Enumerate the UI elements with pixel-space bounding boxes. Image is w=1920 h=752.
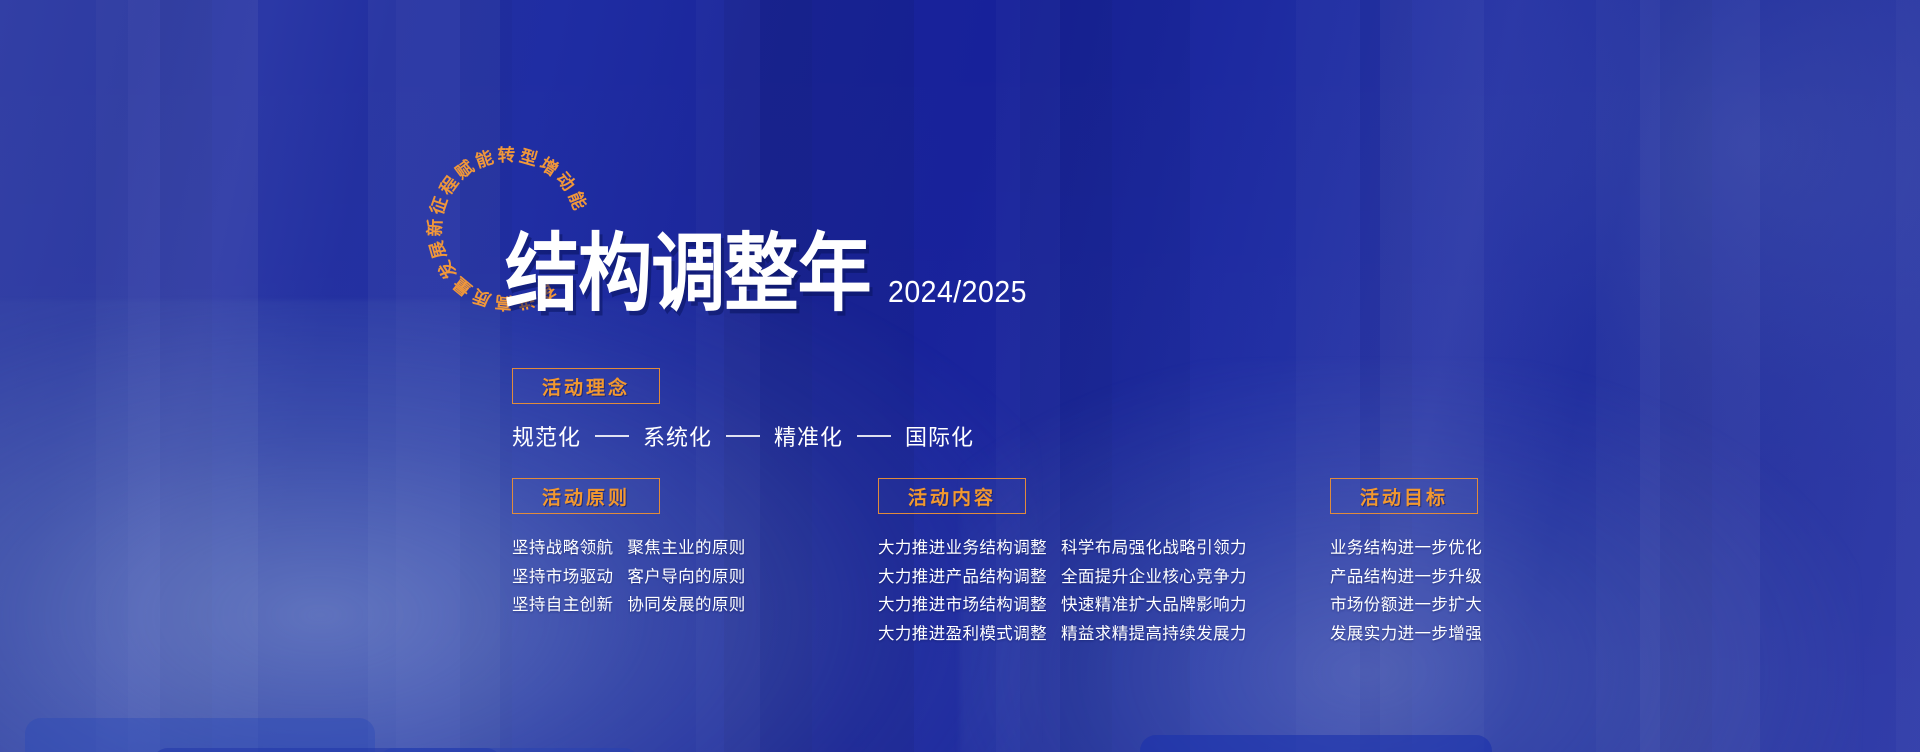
concept-item: 精准化: [774, 420, 843, 452]
seal-char: 能: [473, 146, 497, 171]
list-item: 大力推进盈利模式调整精益求精提高持续发展力: [878, 620, 1247, 649]
list-item-secondary: 全面提升企业核心竞争力: [1061, 563, 1247, 592]
seal-char: 新: [425, 217, 446, 236]
list-item: 大力推进市场结构调整快速精准扩大品牌影响力: [878, 591, 1247, 620]
page-title: 结构调整年: [505, 233, 871, 316]
seal-char: 展: [426, 237, 450, 261]
badge-activity-principle[interactable]: 活动原则: [512, 478, 660, 514]
list-item: 市场份额进一步扩大: [1330, 591, 1482, 620]
seal-char: 转: [497, 145, 516, 165]
background-band-1: [0, 0, 128, 752]
list-item-secondary: 精益求精提高持续发展力: [1061, 620, 1247, 649]
list-item-primary: 业务结构进一步优化: [1330, 534, 1482, 563]
banner-stage: 奋进高质量发展新征程赋能转型增动能 结构调整年 2024/2025 活动理念 活…: [0, 0, 1920, 752]
list-item: 坚持战略领航聚焦主业的原则: [512, 534, 746, 563]
list-item-primary: 坚持市场驱动: [512, 563, 613, 592]
list-item: 大力推进业务结构调整科学布局强化战略引领力: [878, 534, 1247, 563]
column-activity-content: 大力推进业务结构调整科学布局强化战略引领力大力推进产品结构调整全面提升企业核心竞…: [878, 534, 1247, 648]
list-item: 发展实力进一步增强: [1330, 620, 1482, 649]
list-item: 业务结构进一步优化: [1330, 534, 1482, 563]
badge-activity-goal[interactable]: 活动目标: [1330, 478, 1478, 514]
concept-separator: [595, 435, 629, 437]
list-item-primary: 大力推进市场结构调整: [878, 591, 1047, 620]
concept-item: 系统化: [643, 420, 712, 452]
badge-activity-concept[interactable]: 活动理念: [512, 368, 660, 404]
list-item-secondary: 协同发展的原则: [627, 591, 745, 620]
list-item-secondary: 科学布局强化战略引领力: [1061, 534, 1247, 563]
list-item-primary: 大力推进产品结构调整: [878, 563, 1047, 592]
list-item-primary: 大力推进盈利模式调整: [878, 620, 1047, 649]
seal-char: 能: [565, 189, 591, 214]
list-item: 产品结构进一步升级: [1330, 563, 1482, 592]
badge-activity-content[interactable]: 活动内容: [878, 478, 1026, 514]
list-item-primary: 坚持自主创新: [512, 591, 613, 620]
decor-rounded-rect-3: [378, 748, 640, 752]
decor-rounded-rect-2: [152, 748, 502, 752]
list-item-primary: 发展实力进一步增强: [1330, 620, 1482, 649]
list-item-secondary: 快速精准扩大品牌影响力: [1061, 591, 1247, 620]
concept-item: 国际化: [905, 420, 974, 452]
background-glow-right: [1380, 0, 1920, 480]
column-activity-goal: 业务结构进一步优化产品结构进一步升级市场份额进一步扩大发展实力进一步增强: [1330, 534, 1482, 648]
concept-item: 规范化: [512, 420, 581, 452]
list-item-secondary: 客户导向的原则: [627, 563, 745, 592]
title-row: 结构调整年 2024/2025: [505, 246, 1039, 317]
list-item-primary: 市场份额进一步扩大: [1330, 591, 1482, 620]
list-item-primary: 坚持战略领航: [512, 534, 613, 563]
concept-separator: [857, 435, 891, 437]
list-item-primary: 产品结构进一步升级: [1330, 563, 1482, 592]
list-item-primary: 大力推进业务结构调整: [878, 534, 1047, 563]
year-range: 2024/2025: [888, 274, 1027, 317]
decor-rounded-rect-4: [1140, 735, 1492, 752]
list-item: 大力推进产品结构调整全面提升企业核心竞争力: [878, 563, 1247, 592]
list-item: 坚持自主创新协同发展的原则: [512, 591, 746, 620]
seal-char: 型: [517, 146, 541, 170]
concept-separator: [726, 435, 760, 437]
column-activity-principle: 坚持战略领航聚焦主业的原则坚持市场驱动客户导向的原则坚持自主创新协同发展的原则: [512, 534, 746, 620]
list-item-secondary: 聚焦主业的原则: [627, 534, 745, 563]
decor-rounded-rect-1: [25, 718, 375, 752]
concept-line: 规范化系统化精准化国际化: [512, 420, 974, 452]
background-band-3: [368, 0, 500, 752]
list-item: 坚持市场驱动客户导向的原则: [512, 563, 746, 592]
background-band-7: [1640, 0, 1760, 752]
background-band-2: [128, 0, 258, 752]
